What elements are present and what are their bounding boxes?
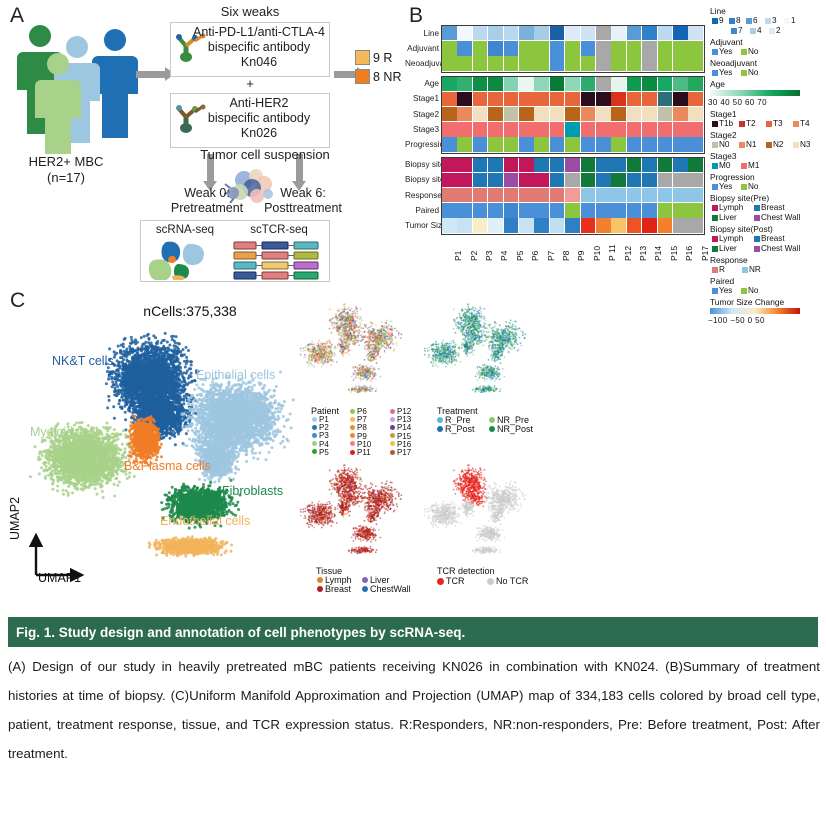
legend-label-nr_post: NR_Post — [497, 424, 533, 434]
heatmap-cell — [673, 173, 688, 187]
heatmap-cell — [473, 92, 488, 106]
legend-dot-p14 — [390, 425, 395, 430]
heatmap-row-label-stage3: Stage3 — [405, 125, 439, 134]
heatmap-cell — [442, 107, 457, 121]
heatmap-cell — [488, 137, 503, 151]
legend-swatch-progression-No — [741, 184, 747, 190]
heatmap-cell — [673, 92, 688, 106]
panel-c-letter: C — [10, 289, 25, 313]
heatmap-cell — [565, 203, 580, 217]
legend-swatch-biopsy-site-post--Lymph — [712, 236, 718, 242]
heatmap-cell — [488, 218, 503, 232]
heatmap-cell — [611, 122, 626, 136]
heatmap-cell — [534, 26, 549, 40]
heatmap-column-label: P5 — [515, 250, 525, 260]
heatmap-cell — [642, 122, 657, 136]
heatmap-cell — [627, 77, 642, 91]
heatmap-cell — [627, 56, 642, 70]
legend-label-line-8: 8 — [736, 16, 741, 25]
heatmap-cell — [688, 218, 703, 232]
heatmap-cell — [611, 77, 626, 91]
heatmap-cell — [658, 56, 673, 70]
heatmap-cell — [565, 26, 580, 40]
legend-dot-p10 — [350, 441, 355, 446]
legend-swatch-stage1-T3 — [766, 121, 772, 127]
heatmap-cell — [642, 137, 657, 151]
legend-dot-p1 — [312, 417, 317, 422]
heatmap-cell — [627, 173, 642, 187]
legend-swatch-neoadjuvant-Yes — [712, 70, 718, 76]
heatmap-cell — [457, 158, 472, 172]
heatmap-cell — [596, 26, 611, 40]
heatmap-cell — [688, 92, 703, 106]
heatmap-cell — [688, 173, 703, 187]
heatmap-cell — [488, 92, 503, 106]
legend-swatch-line-3 — [765, 18, 771, 24]
heatmap-cell — [565, 107, 580, 121]
heatmap-row-label-response: Response — [405, 191, 439, 200]
figure-caption-bar: Fig. 1. Study design and annotation of c… — [8, 617, 818, 647]
heatmap-column-label: P 11 — [607, 244, 617, 261]
legend-dot-p6 — [350, 409, 355, 414]
legend-gradient-age — [710, 90, 800, 96]
heatmap-cell — [565, 158, 580, 172]
heatmap-cell — [442, 188, 457, 202]
heatmap-cell — [627, 41, 642, 55]
heatmap-cell — [550, 218, 565, 232]
heatmap-cell — [534, 218, 549, 232]
heatmap-cell — [519, 122, 534, 136]
legend-label-r_post: R_Post — [445, 424, 475, 434]
legend-label-response-R: R — [719, 265, 725, 274]
heatmap-cell — [611, 92, 626, 106]
heatmap-cell — [581, 188, 596, 202]
heatmap-cell — [673, 158, 688, 172]
legend-swatch-biopsy-site-post--Breast — [754, 236, 760, 242]
arrow-cohort-to-treatment — [136, 71, 166, 78]
heatmap-cell — [581, 77, 596, 91]
heatmap-cell — [642, 77, 657, 91]
legend-title-biopsy-site-post-: Biopsy site(Post) — [710, 224, 773, 234]
tumor-suspension-label: Tumor cell suspension — [165, 148, 365, 162]
heatmap-cell — [658, 137, 673, 151]
heatmap-cell — [673, 137, 688, 151]
umap-x-axis-label: UMAP1 — [38, 571, 81, 585]
heatmap-cell — [611, 107, 626, 121]
heatmap-cell — [473, 218, 488, 232]
panel-c-umap: C nCells:375,338 NK&T cells Epithelial c… — [0, 285, 826, 610]
heatmap-cell — [611, 203, 626, 217]
heatmap-cell — [596, 173, 611, 187]
heatmap-cell — [442, 173, 457, 187]
heatmap-cell — [504, 158, 519, 172]
legend-dot-p15 — [390, 433, 395, 438]
heatmap-cell — [488, 77, 503, 91]
heatmap-cell — [673, 26, 688, 40]
heatmap-cell — [550, 92, 565, 106]
heatmap-cell — [504, 203, 519, 217]
heatmap-cell — [611, 158, 626, 172]
heatmap-cell — [581, 26, 596, 40]
legend-swatch-biopsy-site-pre--Liver — [712, 215, 718, 221]
heatmap-cell — [611, 137, 626, 151]
heatmap-cell — [673, 218, 688, 232]
legend-dot-p16 — [390, 441, 395, 446]
heatmap-cell — [473, 26, 488, 40]
heatmap-cell — [534, 137, 549, 151]
heatmap-cell — [565, 56, 580, 70]
heatmap-column-label: P12 — [623, 245, 633, 260]
umap-label-epithelial: Epithelial cells — [196, 368, 275, 382]
heatmap-cell — [627, 158, 642, 172]
drug1-line2: bispecific antibody — [192, 40, 326, 54]
heatmap-cell — [457, 137, 472, 151]
heatmap-cell — [519, 158, 534, 172]
week6-line1: Weak 6: — [244, 186, 362, 200]
heatmap-cell — [519, 218, 534, 232]
legend-label-line-9: 9 — [719, 16, 724, 25]
heatmap-cell — [534, 158, 549, 172]
heatmap-row-label-biopsy-site-pre-: Biopsy site (Pre) — [405, 160, 439, 169]
legend-dot-breast — [317, 586, 323, 592]
heatmap-cell — [534, 56, 549, 70]
heatmap-cell — [642, 188, 657, 202]
heatmap-cell — [534, 107, 549, 121]
legend-label-adjuvant-No: No — [748, 47, 758, 56]
heatmap-cell — [565, 77, 580, 91]
umap-mini-treatment — [420, 299, 540, 404]
legend-ticks-age: 30 40 50 60 70 — [708, 98, 767, 107]
cohort-label-line2: (n=17) — [6, 171, 126, 185]
heatmap-cell — [457, 26, 472, 40]
heatmap-cell — [627, 26, 642, 40]
heatmap-cell — [596, 122, 611, 136]
heatmap-cell — [565, 188, 580, 202]
heatmap-cell — [642, 203, 657, 217]
scrna-umap-icon — [148, 238, 228, 280]
legend-label-biopsy-site-post--Lymph: Lymph — [719, 234, 743, 243]
legend-label-progression-Yes: Yes — [719, 182, 732, 191]
legend-swatch-stage1-T2 — [739, 121, 745, 127]
drug2-line1: Anti-HER2 — [192, 96, 326, 110]
drug2-line2: bispecific antibody — [192, 111, 326, 125]
heatmap-cell — [581, 56, 596, 70]
umap-label-bplasma: B&Plasma cells — [124, 459, 211, 473]
heatmap-cell — [581, 107, 596, 121]
legend-label-tcr: TCR — [446, 576, 465, 586]
heatmap-cell — [519, 173, 534, 187]
legend-swatch-response-R — [712, 267, 718, 273]
outcome-r-label: 9 R — [373, 51, 392, 65]
legend-swatch-stage2-N2 — [766, 142, 772, 148]
heatmap-cell — [565, 137, 580, 151]
heatmap-cell — [550, 203, 565, 217]
heatmap-cell — [688, 158, 703, 172]
heatmap-cell — [519, 107, 534, 121]
cohort-label-line1: HER2+ MBC — [6, 155, 126, 169]
legend-swatch-response-NR — [742, 267, 748, 273]
legend-label-biopsy-site-post--Liver: Liver — [719, 244, 737, 253]
heatmap-cell — [442, 122, 457, 136]
heatmap-cell — [581, 203, 596, 217]
heatmap-cell — [550, 173, 565, 187]
legend-dot-r_post — [437, 426, 443, 432]
heatmap-cell — [534, 173, 549, 187]
heatmap-cell — [658, 26, 673, 40]
legend-swatch-adjuvant-Yes — [712, 49, 718, 55]
heatmap-cell — [488, 173, 503, 187]
plus-sign: + — [170, 77, 330, 91]
heatmap-cell — [534, 203, 549, 217]
heatmap-cell — [488, 203, 503, 217]
heatmap-column-label: P13 — [638, 245, 648, 260]
legend-swatch-stage2-N3 — [793, 142, 799, 148]
legend-label-line-6: 6 — [753, 16, 758, 25]
heatmap-row-label-line: Line — [405, 29, 439, 38]
legend-dot-tcr — [437, 578, 444, 585]
heatmap-cell — [581, 173, 596, 187]
heatmap-cell — [581, 92, 596, 106]
legend-label-biopsy-site-pre--Chest-Wall: Chest Wall — [761, 213, 800, 222]
heatmap-cell — [504, 92, 519, 106]
heatmap-cell — [596, 107, 611, 121]
heatmap-cell — [581, 137, 596, 151]
legend-swatch-line-7 — [731, 28, 737, 34]
heatmap-cell — [457, 218, 472, 232]
heatmap-column-label: P9 — [576, 250, 586, 260]
legend-title-age: Age — [710, 79, 725, 89]
legend-label-stage3-M0: M0 — [719, 161, 730, 170]
legend-label-stage1-T3: T3 — [773, 119, 783, 128]
legend-dot-p3 — [312, 433, 317, 438]
heatmap-cell — [519, 92, 534, 106]
heatmap-cell — [611, 188, 626, 202]
heatmap-cell — [596, 137, 611, 151]
heatmap-row-label-progression: Progression — [405, 140, 439, 149]
heatmap-cell — [504, 137, 519, 151]
legend-label-biopsy-site-post--Chest-Wall: Chest Wall — [761, 244, 800, 253]
heatmap-cell — [550, 41, 565, 55]
heatmap-cell — [442, 56, 457, 70]
umap-label-nkt: NK&T cells — [52, 354, 114, 368]
heatmap-cell — [442, 218, 457, 232]
heatmap-row-label-paired: Paired — [405, 206, 439, 215]
heatmap-cell — [581, 122, 596, 136]
umap-label-myeloid: Myeloid cells — [30, 425, 102, 439]
heatmap-cell — [504, 26, 519, 40]
heatmap-cell — [673, 188, 688, 202]
heatmap-cell — [642, 41, 657, 55]
heatmap-cell — [673, 56, 688, 70]
legend-title-neoadjuvant: Neoadjuvant — [710, 58, 757, 68]
legend-swatch-biopsy-site-pre--Breast — [754, 205, 760, 211]
heatmap-column-label: P14 — [653, 245, 663, 260]
heatmap-cell — [442, 26, 457, 40]
legend-swatch-stage3-M1 — [741, 163, 747, 169]
legend-label-biopsy-site-pre--Liver: Liver — [719, 213, 737, 222]
heatmap-cell — [642, 173, 657, 187]
heatmap-cell — [534, 188, 549, 202]
legend-swatch-neoadjuvant-No — [741, 70, 747, 76]
legend-swatch-biopsy-site-post--Chest-Wall — [754, 246, 760, 252]
heatmap-cell — [673, 203, 688, 217]
heatmap-cell — [504, 218, 519, 232]
legend-dot-p13 — [390, 417, 395, 422]
heatmap-cell — [519, 137, 534, 151]
legend-swatch-line-2 — [769, 28, 775, 34]
heatmap-cell — [673, 107, 688, 121]
drug1-line3: Kn046 — [192, 55, 326, 69]
legend-label-stage2-N0: N0 — [719, 140, 729, 149]
heatmap-cell — [565, 122, 580, 136]
heatmap-cell — [504, 173, 519, 187]
heatmap-cell — [596, 92, 611, 106]
heatmap-column-label: P15 — [669, 245, 679, 260]
legend-label-stage2-N3: N3 — [800, 140, 810, 149]
heatmap-cell — [550, 107, 565, 121]
heatmap-cell — [488, 122, 503, 136]
heatmap-cell — [565, 92, 580, 106]
heatmap-cell — [688, 188, 703, 202]
heatmap-row-label-adjuvant: Adjuvant — [405, 44, 439, 53]
heatmap-cell — [642, 158, 657, 172]
heatmap-cell — [488, 56, 503, 70]
umap-label-endothelial: Endothelial cells — [160, 514, 250, 528]
legend-swatch-line-1 — [784, 18, 790, 24]
heatmap-cell — [642, 26, 657, 40]
heatmap-cell — [596, 77, 611, 91]
heatmap-cell — [627, 107, 642, 121]
heatmap-cell — [688, 107, 703, 121]
heatmap-cell — [534, 41, 549, 55]
heatmap-column-label: P8 — [561, 250, 571, 260]
heatmap-cell — [442, 203, 457, 217]
heatmap-cell — [473, 122, 488, 136]
outcome-r-swatch — [355, 50, 370, 65]
legend-title-stage1: Stage1 — [710, 109, 737, 119]
legend-swatch-stage1-T4 — [793, 121, 799, 127]
legend-swatch-line-9 — [712, 18, 718, 24]
heatmap-cell — [627, 218, 642, 232]
heatmap-cell — [488, 158, 503, 172]
heatmap-cell — [519, 56, 534, 70]
legend-title-stage3: Stage3 — [710, 151, 737, 161]
heatmap-column-label: P4 — [499, 250, 509, 260]
legend-dot-p8 — [350, 425, 355, 430]
legend-label-progression-No: No — [748, 182, 758, 191]
panel-a-study-design: A HER2+ MBC (n=17) Six weaks — [0, 0, 410, 285]
heatmap-cell — [611, 56, 626, 70]
drug1-line1: Anti-PD-L1/anti-CTLA-4 — [192, 25, 326, 39]
heatmap-row-label-stage2: Stage2 — [405, 110, 439, 119]
heatmap-cell — [673, 122, 688, 136]
heatmap-column-label: P1 — [453, 250, 463, 260]
drug2-line3: Kn026 — [192, 126, 326, 140]
legend-swatch-line-8 — [729, 18, 735, 24]
legend-title-progression: Progression — [710, 172, 755, 182]
umap-mini-tissue — [296, 460, 416, 565]
heatmap-cell — [550, 188, 565, 202]
heatmap-column-label: P6 — [530, 250, 540, 260]
heatmap-cell — [550, 56, 565, 70]
legend-label-adjuvant-Yes: Yes — [719, 47, 732, 56]
legend-label-stage1-T4: T4 — [800, 119, 810, 128]
legend-title-biopsy-site-pre-: Biopsy site(Pre) — [710, 193, 769, 203]
heatmap-cell — [504, 188, 519, 202]
heatmap-cell — [534, 122, 549, 136]
legend-swatch-biopsy-site-post--Liver — [712, 246, 718, 252]
heatmap-cell — [442, 92, 457, 106]
legend-label-neoadjuvant-No: No — [748, 68, 758, 77]
heatmap-cell — [611, 41, 626, 55]
legend-label-biopsy-site-pre--Breast: Breast — [761, 203, 785, 212]
heatmap-cell — [688, 26, 703, 40]
heatmap-column-label: P7 — [546, 250, 556, 260]
legend-swatch-stage2-N1 — [739, 142, 745, 148]
heatmap-cell — [658, 218, 673, 232]
week6-line2: Posttreatment — [244, 201, 362, 215]
heatmap-cell — [581, 41, 596, 55]
heatmap-cell — [673, 41, 688, 55]
patient-cohort-icon — [14, 20, 154, 155]
heatmap-cell — [519, 41, 534, 55]
heatmap-column-label: P3 — [484, 250, 494, 260]
heatmap-cell — [519, 188, 534, 202]
heatmap-cell — [627, 92, 642, 106]
heatmap-cell — [642, 218, 657, 232]
heatmap-cell — [457, 188, 472, 202]
heatmap-cell — [565, 173, 580, 187]
heatmap-cell — [519, 77, 534, 91]
sctcr-seq-label: scTCR-seq — [238, 223, 320, 237]
heatmap-cell — [473, 137, 488, 151]
heatmap-cell — [611, 173, 626, 187]
heatmap-cell — [519, 203, 534, 217]
panel-b-clinical-heatmap: B LineAdjuvantNeoadjuvantAgeStage1Stage2… — [405, 0, 826, 285]
heatmap-cell — [457, 107, 472, 121]
legend-label-no-tcr: No TCR — [496, 576, 528, 586]
heatmap-row-label-biopsy-site-post-: Biopsy site (Post) — [405, 175, 439, 184]
legend-label-stage1-T1b: T1b — [719, 119, 733, 128]
heatmap-cell — [473, 107, 488, 121]
heatmap-cell — [658, 158, 673, 172]
heatmap-cell — [488, 107, 503, 121]
heatmap-cell — [504, 77, 519, 91]
legend-dot-liver — [362, 577, 368, 583]
legend-label-biopsy-site-pre--Lymph: Lymph — [719, 203, 743, 212]
heatmap-cell — [596, 41, 611, 55]
legend-label-p5: P5 — [319, 448, 329, 457]
heatmap-row-label-age: Age — [405, 79, 439, 88]
legend-dot-nr_post — [489, 426, 495, 432]
heatmap-cell — [627, 122, 642, 136]
heatmap-cell — [611, 218, 626, 232]
legend-swatch-line-4 — [750, 28, 756, 34]
heatmap-cell — [442, 158, 457, 172]
heatmap-cell — [642, 56, 657, 70]
heatmap-cell — [504, 122, 519, 136]
heatmap-cell — [627, 137, 642, 151]
legend-dot-chestwall — [362, 586, 368, 592]
legend-label-line-4: 4 — [757, 26, 762, 35]
heatmap-cell — [473, 188, 488, 202]
heatmap-cell — [688, 56, 703, 70]
heatmap-cell — [550, 77, 565, 91]
umap-mini-patient — [296, 299, 416, 404]
legend-label-line-3: 3 — [772, 16, 777, 25]
heatmap-cell — [442, 137, 457, 151]
legend-swatch-stage2-N0 — [712, 142, 718, 148]
